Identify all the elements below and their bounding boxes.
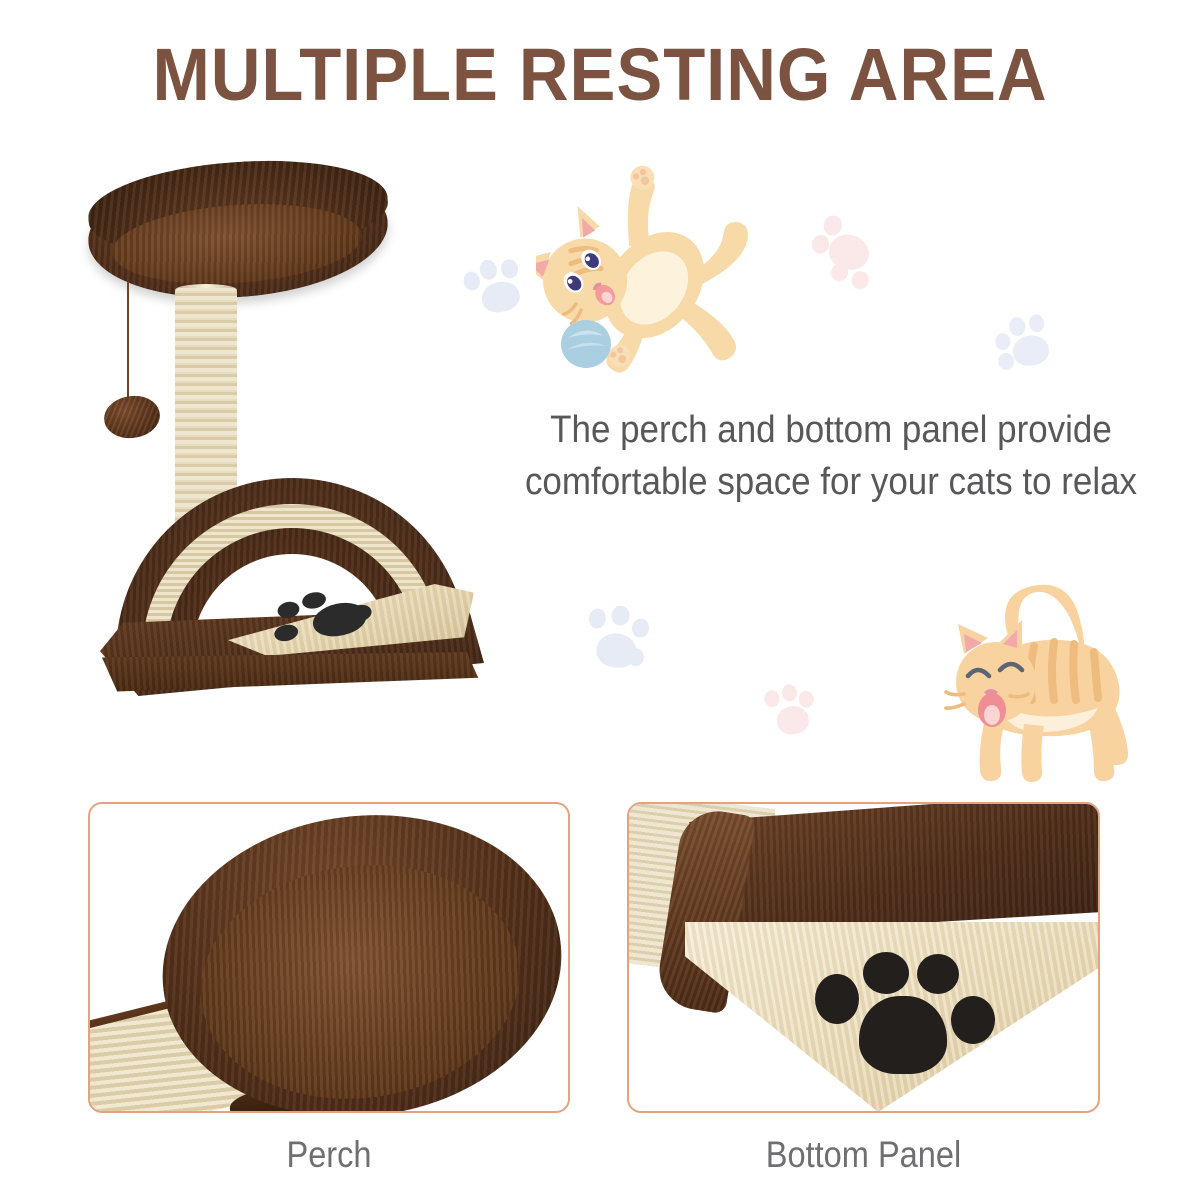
paw-print-decoration-pink-1 [804,208,887,288]
detail-panel-bottom-label: Bottom Panel [655,1134,1071,1176]
toy-ball-illustration [558,316,614,372]
detail-panel-perch [88,802,570,1113]
bottom-detail-paw-print [807,952,997,1074]
paw-print-decoration-blue-2 [992,312,1059,378]
toy-string [127,282,129,400]
paw-print-decoration-blue-3 [581,601,660,680]
detail-panel-bottom [627,802,1100,1113]
stretching-tabby-cat-illustration [938,578,1148,783]
paw-print-decoration-blue-1 [460,252,537,326]
page-title: MULTIPLE RESTING AREA [42,36,1158,114]
infographic-canvas: MULTIPLE RESTING AREA [0,0,1200,1200]
description-text: The perch and bottom panel provide comfo… [522,404,1140,508]
paw-print-decoration-pink-2 [763,681,825,743]
pompom-toy [101,392,162,441]
hero-product-image [80,160,500,705]
detail-panel-perch-label: Perch [117,1134,541,1176]
